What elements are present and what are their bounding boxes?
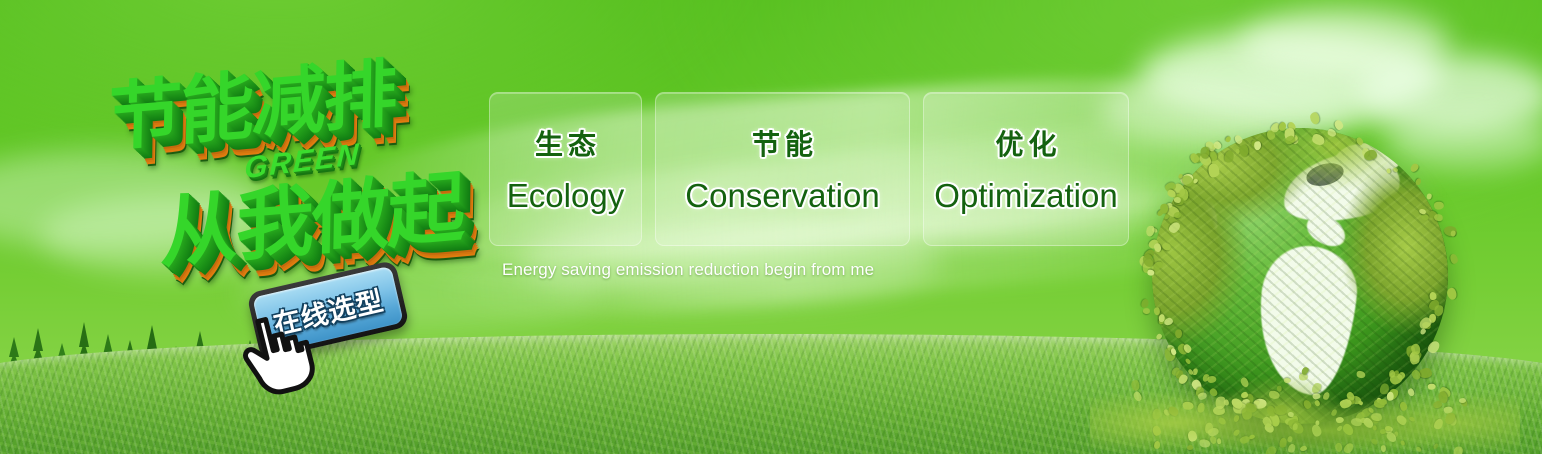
feature-card-en-label: Optimization [934, 177, 1117, 215]
leaf-icon [1140, 298, 1150, 309]
banner-tagline: Energy saving emission reduction begin f… [502, 260, 874, 280]
feature-card-optimization[interactable]: 优化 Optimization [923, 92, 1129, 246]
feature-card-cn-label: 优化 [990, 123, 1061, 163]
leaf-icon [1334, 119, 1345, 131]
feature-card-cn-label: 生态 [530, 123, 601, 163]
leaf-icon [1145, 225, 1156, 238]
leaf-icon [1154, 307, 1160, 315]
feature-card-conservation[interactable]: 节能 Conservation [655, 92, 910, 246]
leaf-icon [1310, 113, 1320, 126]
feature-card-en-label: Ecology [507, 177, 624, 215]
feature-card-en-label: Conservation [685, 177, 879, 215]
leaf-icon [1224, 136, 1232, 144]
leaf-icon [1409, 162, 1421, 174]
leaf-icon [1386, 169, 1390, 174]
hand-pointer-icon [236, 310, 316, 396]
feature-card-list: 生态 Ecology 节能 Conservation 优化 Optimizati… [489, 92, 1129, 246]
fallen-leaves [1090, 376, 1520, 454]
leaf-icon [1449, 253, 1458, 264]
headline-line-bottom: 从我做起 [160, 144, 465, 283]
feature-card-cn-label: 节能 [747, 123, 818, 163]
leaf-icon [1155, 333, 1163, 341]
leaf-icon [1426, 193, 1433, 201]
leaf-icon [1433, 201, 1443, 209]
headline-logo: 节能减排 GREEN 从我做起 [96, 40, 496, 270]
feature-card-ecology[interactable]: 生态 Ecology [489, 92, 642, 246]
leaf-icon [1142, 307, 1150, 314]
leaf-icon [1447, 287, 1458, 300]
hero-banner: 节能减排 GREEN 从我做起 在线选型 生态 Ecology 节能 Conse… [0, 0, 1542, 454]
